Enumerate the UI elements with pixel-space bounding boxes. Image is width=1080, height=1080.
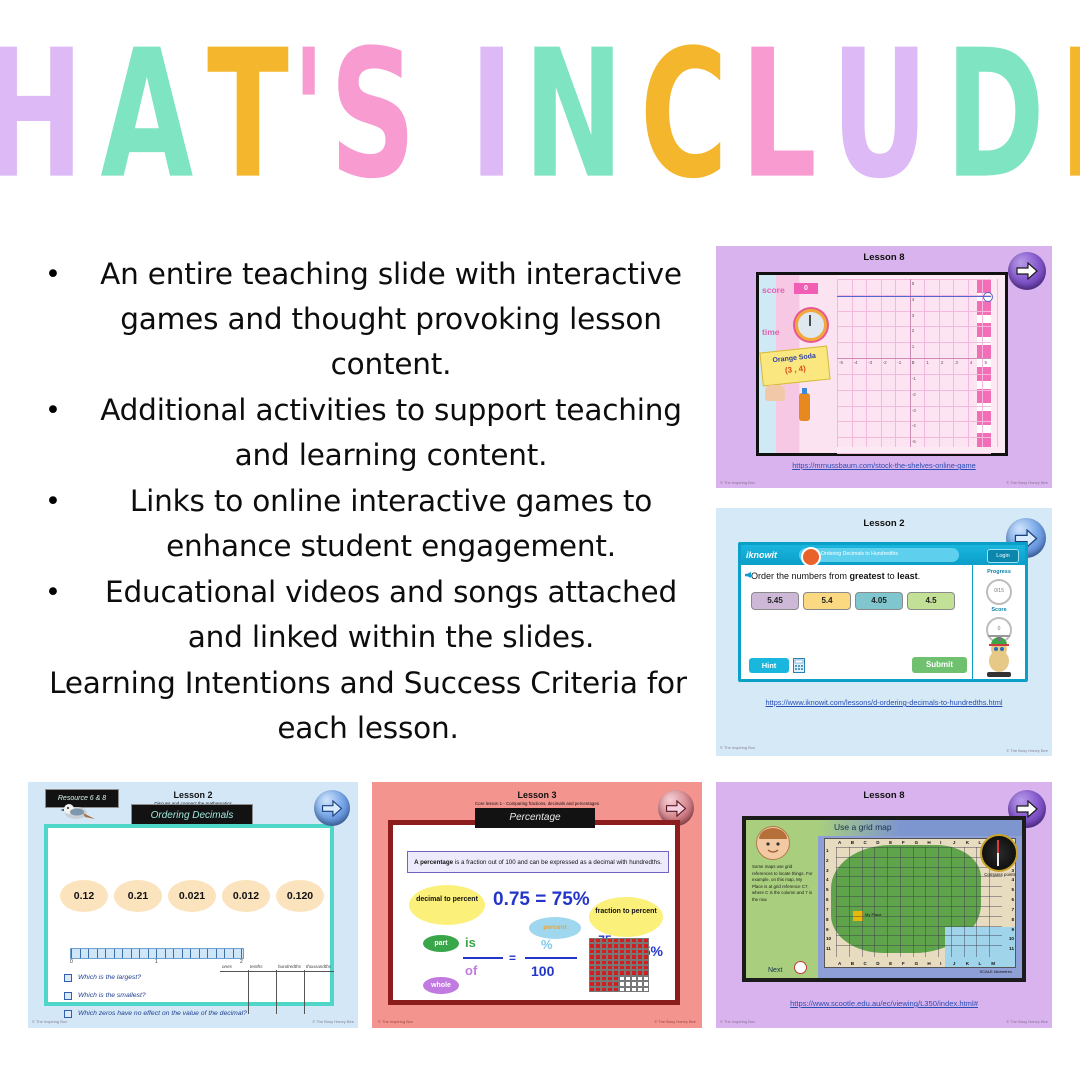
grid-column-label: E bbox=[889, 961, 892, 966]
map-grid-line-v bbox=[913, 847, 914, 957]
copyright-left: © The Inspiring Box bbox=[720, 745, 755, 750]
progress-value: 0/15 bbox=[986, 579, 1012, 605]
map-grid-line-v bbox=[874, 847, 875, 957]
copyright-left: © The Inspiring Box bbox=[720, 480, 755, 485]
x-tick-label: 2 bbox=[941, 360, 944, 365]
y-tick-label: 4 bbox=[912, 297, 915, 302]
score-label: score bbox=[762, 285, 785, 295]
y-tick-label: -4 bbox=[912, 423, 916, 428]
grid-row-label: 4 bbox=[826, 877, 829, 882]
label-fraction-to-percent: fraction to percent bbox=[589, 897, 663, 937]
arrow-right-icon bbox=[1016, 262, 1038, 280]
slide-screenshot: iknowit Ordering Decimals to Hundredths … bbox=[738, 542, 1028, 682]
compass-label: Compass points bbox=[978, 872, 1022, 877]
target-line bbox=[837, 296, 991, 297]
slide-lesson-title: Lesson 8 bbox=[716, 252, 1052, 263]
slide-thumbnail-percentage[interactable]: Lesson 3 Core lesson 1 - Comparing fract… bbox=[372, 782, 702, 1028]
game-sidebar: score 0 time Orange Soda (3 , 4) bbox=[759, 275, 837, 453]
progress-label: Progress bbox=[973, 569, 1025, 575]
slide-screenshot: Use a grid map Some maps use grid refere… bbox=[742, 816, 1026, 982]
map-grid-line-h bbox=[836, 935, 1002, 936]
y-tick-label: 5 bbox=[912, 281, 915, 286]
numberline-tick bbox=[207, 949, 208, 958]
submit-button[interactable]: Submit bbox=[912, 657, 967, 673]
table-divider bbox=[248, 970, 249, 1014]
grid-row-label: 11 bbox=[826, 946, 831, 951]
slide-heading: Percentage bbox=[475, 808, 595, 828]
app-toolbar: iknowit Ordering Decimals to Hundredths … bbox=[741, 545, 1025, 565]
whole-bubble: whole bbox=[423, 977, 459, 994]
y-axis bbox=[910, 279, 911, 447]
definition-rest: is a fraction out of 100 and can be expr… bbox=[453, 859, 662, 866]
map-grid-line-h bbox=[836, 926, 1002, 927]
copyright-right: © The Busy Honey Bee bbox=[654, 1019, 696, 1024]
nav-next-button[interactable] bbox=[314, 790, 350, 826]
grid-column-label: D bbox=[876, 961, 879, 966]
copyright-left: © The Inspiring Box bbox=[32, 1019, 67, 1024]
list-item-text: Educational videos and songs attached an… bbox=[76, 570, 706, 660]
grid-line-h bbox=[837, 421, 991, 422]
question-prefix: Order the numbers from bbox=[751, 571, 850, 581]
table-header: hundredths bbox=[278, 964, 301, 969]
grid-row-label: 11 bbox=[1009, 946, 1014, 951]
title-letter-2: A bbox=[100, 27, 191, 204]
numberline-label: 2 bbox=[240, 959, 243, 965]
numberline-tick bbox=[199, 949, 200, 958]
equals-sign: = bbox=[509, 951, 516, 965]
slide-link[interactable]: https://mrnussbaum.com/stock-the-shelves… bbox=[716, 461, 1052, 470]
title-letter-12: D bbox=[945, 27, 1043, 204]
copyright-left: © The Inspiring Box bbox=[720, 1019, 755, 1024]
mascot-icon bbox=[982, 635, 1016, 677]
y-tick-label: -2 bbox=[912, 392, 916, 397]
decimal-oval: 0.21 bbox=[114, 880, 162, 912]
numberline-tick bbox=[97, 949, 98, 958]
grid-row-label: 10 bbox=[826, 936, 831, 941]
map-grid-line-v bbox=[836, 847, 837, 957]
grid-column-label: J bbox=[953, 961, 956, 966]
numberline-tick bbox=[80, 949, 81, 958]
grid-row-label: 8 bbox=[826, 917, 829, 922]
table-rule bbox=[220, 971, 334, 972]
next-play-button[interactable] bbox=[794, 961, 807, 974]
grid-column-label: K bbox=[966, 961, 969, 966]
slide-link[interactable]: https://www.scootle.edu.au/ec/viewing/L3… bbox=[716, 999, 1052, 1008]
label-text: decimal to percent bbox=[416, 896, 478, 903]
scale-label: SCALE bbox=[980, 969, 993, 974]
numberline-tick bbox=[165, 949, 166, 958]
map-grid-line-v bbox=[900, 847, 901, 957]
question-text: Which is the smallest? bbox=[78, 992, 146, 999]
slide-link[interactable]: https://www.iknowit.com/lessons/d-orderi… bbox=[716, 698, 1052, 707]
title-letter-1: H bbox=[0, 27, 83, 204]
page-title: WHAT'S INCLUDED bbox=[0, 22, 1080, 182]
y-tick-label: -3 bbox=[912, 408, 916, 413]
label-text: fraction to percent bbox=[595, 908, 656, 915]
grid-row-label: 7 bbox=[1011, 907, 1014, 912]
grid-cell bbox=[643, 987, 649, 992]
numberline-tick bbox=[224, 949, 225, 958]
slide-lesson-title: Lesson 2 bbox=[716, 518, 1052, 529]
grid-row-label: 10 bbox=[1009, 936, 1014, 941]
grid-row-label: 8 bbox=[1011, 917, 1014, 922]
grid-row-label: 9 bbox=[1011, 927, 1014, 932]
grid-column-label: C bbox=[864, 961, 867, 966]
grid-line-v bbox=[982, 279, 983, 447]
grid-column-label: H bbox=[927, 840, 930, 845]
grid-column-label: A bbox=[838, 961, 841, 966]
title-letter-8: N bbox=[524, 27, 623, 204]
timer-dial-icon bbox=[795, 309, 827, 341]
grid-row-label: 9 bbox=[826, 927, 829, 932]
table-header: tenths bbox=[250, 964, 263, 969]
grid-line-h bbox=[837, 453, 991, 454]
question-checkbox[interactable] bbox=[64, 1010, 72, 1018]
title-letter-5: S bbox=[330, 27, 415, 204]
title-letter-6 bbox=[424, 27, 464, 204]
x-tick-label: -4 bbox=[854, 360, 858, 365]
table-divider bbox=[304, 970, 305, 1014]
dice-icon bbox=[801, 547, 821, 567]
map-grid-line-v bbox=[862, 847, 863, 957]
grid-line-v bbox=[997, 279, 998, 447]
map-grid-line-h bbox=[836, 857, 1002, 858]
slide-lesson-title: Lesson 8 bbox=[716, 790, 1052, 801]
of-label: of bbox=[465, 963, 477, 978]
order-card: Orange Soda (3 , 4) bbox=[759, 346, 830, 387]
grid-column-label: F bbox=[902, 961, 905, 966]
definition-box: A percentage is a fraction out of 100 an… bbox=[407, 851, 669, 873]
title-letter-3: T bbox=[207, 27, 287, 204]
x-tick-label: -5 bbox=[839, 360, 843, 365]
target-marker bbox=[983, 292, 993, 302]
question-bold-greatest: greatest bbox=[850, 571, 885, 581]
map-grid-line-h bbox=[836, 867, 1002, 868]
list-item: • Links to online interactive games to e… bbox=[30, 479, 706, 569]
title-letter-9: C bbox=[640, 27, 726, 204]
calculator-icon[interactable] bbox=[793, 658, 805, 673]
numberline-tick bbox=[173, 949, 174, 958]
slide-lesson-title: Lesson 3 bbox=[372, 790, 702, 800]
grid-column-label: D bbox=[876, 840, 879, 845]
y-tick-label: 3 bbox=[912, 313, 915, 318]
map-grid-line-h bbox=[836, 945, 1002, 946]
score-value: 0 bbox=[794, 283, 818, 294]
map-grid-line-h bbox=[836, 906, 1002, 907]
title-letter-13: E bbox=[1059, 27, 1080, 204]
grid-column-label: G bbox=[915, 840, 919, 845]
decimal-oval: 0.120 bbox=[276, 880, 324, 912]
grid-row-label: 2 bbox=[826, 858, 829, 863]
x-tick-label: 1 bbox=[926, 360, 929, 365]
y-tick-label: 0 bbox=[912, 360, 915, 365]
map-grid-line-v bbox=[938, 847, 939, 957]
map-grid-line-h bbox=[836, 886, 1002, 887]
slide-screenshot: A percentage is a fraction out of 100 an… bbox=[388, 820, 680, 1005]
copyright-right: © The Busy Honey Bee bbox=[1006, 480, 1048, 485]
soda-bottle-icon bbox=[799, 393, 810, 421]
x-tick-label: 3 bbox=[955, 360, 958, 365]
numberline-label: 1 bbox=[155, 959, 158, 965]
place-value-table: onestenthshundredthsthousandths bbox=[220, 964, 334, 1014]
info-text: Some maps use grid references to locate … bbox=[752, 864, 814, 904]
list-item-text: Links to online interactive games to enh… bbox=[76, 479, 706, 569]
kookaburra-icon bbox=[61, 802, 95, 824]
decimal-oval: 0.12 bbox=[60, 880, 108, 912]
numberline-tick bbox=[122, 949, 123, 958]
map-grid-line-v bbox=[976, 847, 977, 957]
grid-column-label: I bbox=[940, 840, 941, 845]
hint-button[interactable]: Hint bbox=[749, 658, 789, 673]
slide-screenshot: score 0 time Orange Soda (3 , 4) -5-4-3-… bbox=[756, 272, 1008, 456]
grid-column-label: F bbox=[902, 840, 905, 845]
y-tick-label: -1 bbox=[912, 376, 916, 381]
answer-chip[interactable]: 5.4 bbox=[803, 592, 851, 610]
list-item: • Educational videos and songs attached … bbox=[30, 570, 706, 660]
grid-column-label: J bbox=[953, 840, 956, 845]
score-label: Score bbox=[973, 607, 1025, 613]
next-label: Next bbox=[768, 967, 782, 974]
grid-column-label: I bbox=[940, 961, 941, 966]
copyright-right: © The Busy Honey Bee bbox=[1006, 1019, 1048, 1024]
list-item-text: An entire teaching slide with interactiv… bbox=[76, 252, 706, 387]
answer-chip[interactable]: 5.45 bbox=[751, 592, 799, 610]
number-line bbox=[70, 948, 244, 959]
avatar-face-icon bbox=[756, 826, 790, 860]
x-tick-label: -2 bbox=[883, 360, 887, 365]
table-header: ones bbox=[222, 964, 232, 969]
list-item: • An entire teaching slide with interact… bbox=[30, 252, 706, 387]
hundred-grid bbox=[589, 938, 649, 992]
compass-icon bbox=[980, 834, 1018, 872]
grid-column-label: E bbox=[889, 840, 892, 845]
grid-row-label: 6 bbox=[1011, 897, 1014, 902]
numberline-tick bbox=[156, 949, 157, 958]
activity-name: Ordering Decimals to Hundredths bbox=[821, 551, 898, 557]
numberline-tick bbox=[88, 949, 89, 958]
question-checkbox[interactable] bbox=[64, 974, 72, 982]
numberline-label: 0 bbox=[70, 959, 73, 965]
table-divider bbox=[276, 970, 277, 1014]
title-letter-4: ' bbox=[293, 27, 324, 204]
title-letter-10: L bbox=[740, 27, 815, 204]
grid-line-h bbox=[837, 437, 991, 438]
map-grid-line-h bbox=[836, 847, 1002, 848]
hundred-label: 100 bbox=[531, 963, 554, 979]
closing-line: Learning Intentions and Success Criteria… bbox=[30, 661, 706, 751]
title-letter-7: I bbox=[469, 27, 512, 204]
coordinate-grid: -5-4-3-2-1012345543210-1-2-3-4-5 bbox=[837, 279, 991, 447]
map-grid-line-h bbox=[836, 896, 1002, 897]
grid-row-label: 7 bbox=[826, 907, 829, 912]
x-tick-label: -3 bbox=[868, 360, 872, 365]
bullet-dot-icon: • bbox=[30, 570, 76, 615]
grid-column-label: A bbox=[838, 840, 841, 845]
decimal-oval: 0.012 bbox=[222, 880, 270, 912]
hand-icon bbox=[765, 385, 785, 401]
numberline-tick bbox=[233, 949, 234, 958]
slide-screenshot: 0.120.210.0210.0120.120 Which is the lar… bbox=[44, 824, 334, 1006]
status-sidebar: Progress 0/15 Score 0 bbox=[972, 565, 1025, 679]
copyright-right: © The Busy Honey Bee bbox=[312, 1019, 354, 1024]
x-tick-label: -1 bbox=[897, 360, 901, 365]
equation-decimal: 0.75 = 75% bbox=[493, 889, 590, 911]
answer-chip[interactable]: 4.5 bbox=[907, 592, 955, 610]
list-item: • Additional activities to support teach… bbox=[30, 388, 706, 478]
slide-thumbnail-ordering-decimals[interactable]: Lesson 2 Discuss and connect the mathema… bbox=[28, 782, 358, 1028]
y-tick-label: 1 bbox=[912, 344, 915, 349]
slide-lesson-subtitle: Core lesson 1 - Comparing fractions, dec… bbox=[372, 801, 702, 806]
grid-row-label: 6 bbox=[826, 897, 829, 902]
grid-column-label: G bbox=[915, 961, 919, 966]
question-bold-least: least bbox=[897, 571, 918, 581]
question-checkbox[interactable] bbox=[64, 992, 72, 1000]
bullet-dot-icon: • bbox=[30, 479, 76, 524]
answer-chip[interactable]: 4.05 bbox=[855, 592, 903, 610]
numberline-tick bbox=[241, 949, 242, 958]
y-tick-label: -5 bbox=[912, 439, 916, 444]
slide-thumbnail-iknowit[interactable]: Lesson 2 iknowit Ordering Decimals to Hu… bbox=[716, 508, 1052, 756]
arrow-right-icon bbox=[665, 800, 687, 817]
slide-thumbnail-gridmap[interactable]: Lesson 8 Use a grid map Some maps use gr… bbox=[716, 782, 1052, 1028]
map-grid-line-v bbox=[964, 847, 965, 957]
title-letter-11: U bbox=[831, 27, 927, 204]
login-button[interactable]: Login bbox=[987, 549, 1019, 563]
time-label: time bbox=[762, 327, 779, 337]
grid-row-label: 3 bbox=[826, 868, 829, 873]
copyright-left: © The Inspiring Box bbox=[378, 1019, 413, 1024]
numberline-tick bbox=[131, 949, 132, 958]
features-list: • An entire teaching slide with interact… bbox=[30, 252, 706, 751]
decimal-oval: 0.021 bbox=[168, 880, 216, 912]
activity-header: Use a grid map bbox=[818, 820, 1022, 836]
grid-row-label: 4 bbox=[1011, 877, 1014, 882]
numberline-tick bbox=[139, 949, 140, 958]
bullet-dot-icon: • bbox=[30, 252, 76, 297]
map-grid-line-v bbox=[951, 847, 952, 957]
y-tick-label: 2 bbox=[912, 328, 915, 333]
grid-column-label: B bbox=[851, 840, 854, 845]
grid-row-label: 5 bbox=[1011, 887, 1014, 892]
bullet-dot-icon: • bbox=[30, 388, 76, 433]
percent-cloud: percent bbox=[529, 917, 581, 939]
list-item-text: Additional activities to support teachin… bbox=[76, 388, 706, 478]
numberline-tick bbox=[216, 949, 217, 958]
numberline-tick bbox=[190, 949, 191, 958]
grid-row-label: 1 bbox=[826, 848, 829, 853]
grid-column-label: K bbox=[966, 840, 969, 845]
question-end: . bbox=[918, 571, 921, 581]
definition-bold: A percentage bbox=[414, 859, 453, 866]
grid-column-label: C bbox=[864, 840, 867, 845]
question-text: Which is the largest? bbox=[78, 974, 141, 981]
numberline-tick bbox=[148, 949, 149, 958]
nav-next-button[interactable] bbox=[1008, 252, 1046, 290]
map-grid-line-v bbox=[925, 847, 926, 957]
grid-column-label: M bbox=[991, 961, 995, 966]
grid-row-label: 5 bbox=[826, 887, 829, 892]
map-scale: SCALE kilometres bbox=[980, 969, 1012, 974]
map-grid-line-h bbox=[836, 916, 1002, 917]
is-label: is bbox=[465, 935, 476, 950]
part-bubble: part bbox=[423, 935, 459, 952]
x-axis bbox=[837, 358, 991, 359]
map-grid-line-v bbox=[849, 847, 850, 957]
grid-column-label: L bbox=[978, 961, 981, 966]
question-text: Order the numbers from greatest to least… bbox=[751, 571, 920, 581]
scale-unit: kilometres bbox=[994, 969, 1012, 974]
numberline-tick bbox=[71, 949, 72, 958]
grid-column-label: B bbox=[851, 961, 854, 966]
activity-heading: Use a grid map bbox=[834, 822, 892, 832]
numberline-tick bbox=[182, 949, 183, 958]
x-tick-label: 4 bbox=[970, 360, 973, 365]
brand-logo: iknowit bbox=[746, 550, 777, 560]
label-decimal-to-percent: decimal to percent bbox=[409, 885, 485, 925]
slide-thumbnail-stock-shelves[interactable]: Lesson 8 score 0 time Orange Soda (3 , 4… bbox=[716, 246, 1052, 488]
grid-column-label: H bbox=[927, 961, 930, 966]
question-mid: to bbox=[885, 571, 898, 581]
arrow-right-icon bbox=[321, 800, 343, 817]
numberline-tick bbox=[114, 949, 115, 958]
percent-symbol: % bbox=[541, 937, 553, 952]
x-tick-label: 5 bbox=[984, 360, 987, 365]
title-letters: WHAT'S INCLUDED bbox=[0, 27, 1080, 177]
copyright-right: © The Busy Honey Bee bbox=[1006, 748, 1048, 753]
numberline-tick bbox=[105, 949, 106, 958]
map-grid-line-v bbox=[887, 847, 888, 957]
table-header: thousandths bbox=[306, 964, 331, 969]
